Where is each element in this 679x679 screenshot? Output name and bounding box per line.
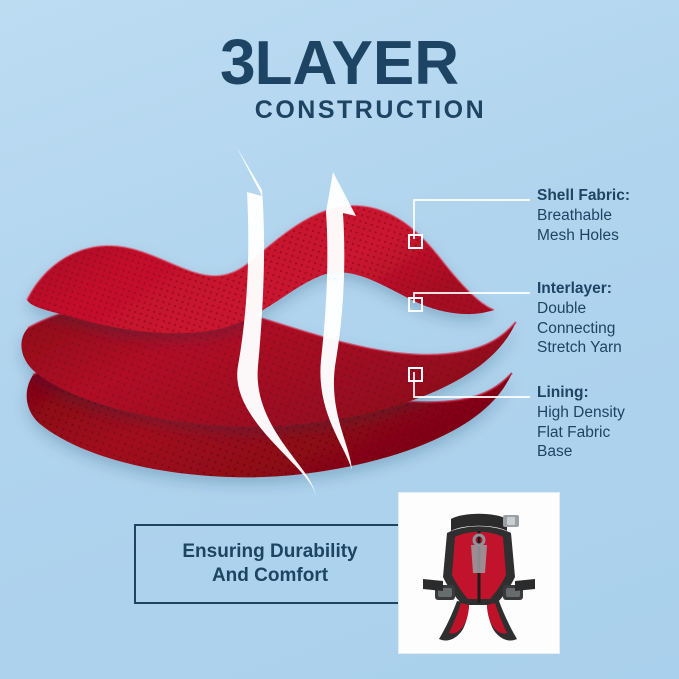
callout-interlayer: Interlayer: Double Connecting Stretch Ya… [537, 279, 622, 358]
callout-body-line: Flat Fabric [537, 423, 625, 443]
square-marker-interlayer [408, 297, 423, 312]
callout-body-line: Stretch Yarn [537, 338, 622, 358]
callout-body-line: Mesh Holes [537, 226, 630, 246]
callout-body-line: Base [537, 442, 625, 462]
callout-body-line: Breathable [537, 206, 630, 226]
callout-body-line: Double [537, 299, 622, 319]
dog-harness-photo [398, 492, 560, 654]
callout-heading: Shell Fabric: [537, 186, 630, 206]
tagline-line-1: Ensuring Durability [182, 541, 357, 562]
callout-heading: Interlayer: [537, 279, 622, 299]
callout-shell-fabric: Shell Fabric: Breathable Mesh Holes [537, 186, 630, 245]
square-marker-lining [408, 367, 423, 382]
tagline-banner: Ensuring Durability And Comfort [134, 524, 406, 604]
square-marker-shell [408, 234, 423, 249]
infographic-canvas: 3 LAYER CONSTRUCTION [0, 0, 679, 679]
callout-lining: Lining: High Density Flat Fabric Base [537, 383, 625, 462]
callout-body-line: High Density [537, 403, 625, 423]
tagline-text: Ensuring Durability And Comfort [182, 540, 357, 588]
callout-heading: Lining: [537, 383, 625, 403]
callout-body-line: Connecting [537, 319, 622, 339]
tagline-line-2: And Comfort [212, 565, 328, 586]
